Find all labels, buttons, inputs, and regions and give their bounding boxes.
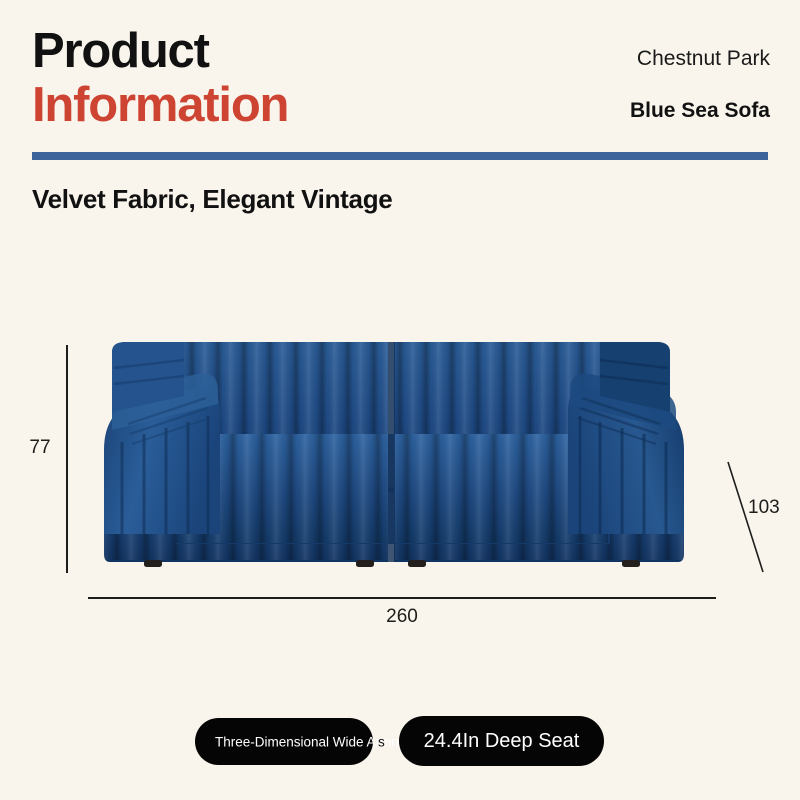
feature-pill-armrests[interactable]: Three-Dimensional Wide Armrest: [195, 718, 373, 765]
product-name: Blue Sea Sofa: [430, 98, 770, 124]
subtitle: Velvet Fabric, Elegant Vintage: [32, 184, 392, 215]
depth-dimension-line: [700, 450, 800, 590]
page-title-block: Product Information: [32, 26, 462, 130]
brand-block: Chestnut Park Blue Sea Sofa: [430, 46, 770, 124]
page-title-line-2: Information: [32, 80, 462, 130]
product-information-page: Product Information Chestnut Park Blue S…: [0, 0, 800, 800]
width-dimension-line: [88, 597, 716, 599]
width-dimension-label: 260: [352, 606, 452, 628]
feature-pill-deep-seat-label: 24.4In Deep Seat: [424, 730, 580, 753]
depth-dimension-label: 103: [748, 497, 780, 519]
height-dimension-line: [66, 345, 68, 573]
feature-pill-row: Three-Dimensional Wide Armrest s 24.4In …: [0, 716, 800, 768]
page-title-line-1: Product: [32, 26, 462, 76]
feature-pill-deep-seat[interactable]: 24.4In Deep Seat: [399, 716, 604, 766]
brand-name: Chestnut Park: [430, 46, 770, 72]
sofa-illustration: [88, 338, 716, 576]
feature-pill-armrests-overflow: s: [378, 735, 385, 750]
height-dimension-label: 77: [18, 437, 62, 459]
accent-divider: [32, 152, 768, 160]
